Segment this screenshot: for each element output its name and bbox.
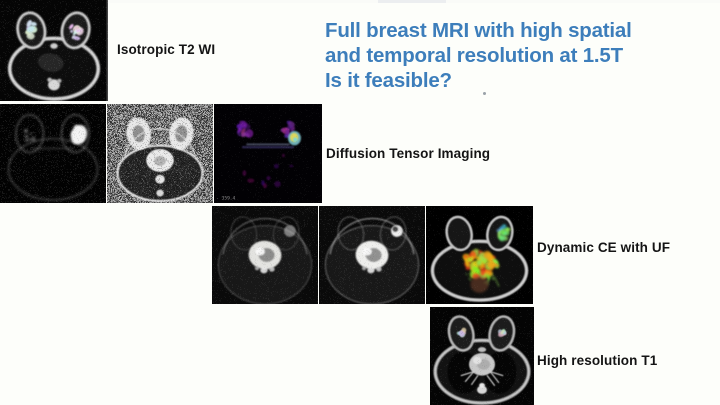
mri-panel-dti-color-overlay: [214, 104, 322, 203]
cursor-dot: [483, 92, 486, 95]
label-dynamic-ce-with-uf: Dynamic CE with UF: [537, 240, 670, 255]
mri-panel-dce-subtraction-late: [319, 206, 425, 304]
label-high-resolution-t1: High resolution T1: [537, 353, 657, 368]
mri-image-t2-axial-breast: [0, 0, 108, 101]
title-line-3: Is it feasible?: [325, 68, 695, 93]
top-bar: [0, 0, 720, 3]
label-diffusion-tensor-imaging: Diffusion Tensor Imaging: [326, 146, 490, 161]
mri-image-dce-subtraction-early: [212, 206, 318, 304]
mri-image-dce-perfusion-colormap: [426, 206, 533, 304]
mri-image-dce-subtraction-late: [319, 206, 425, 304]
mri-panel-dwi-axial-breast: [0, 104, 106, 203]
mri-image-dwi-axial-breast: [0, 104, 106, 203]
mri-panel-dce-subtraction-early: [212, 206, 318, 304]
title-line-1: Full breast MRI with high spatial: [325, 18, 695, 43]
top-bar-segment: [378, 0, 446, 3]
slide-title: Full breast MRI with high spatial and te…: [325, 18, 695, 93]
mri-panel-t1-high-resolution: [430, 307, 534, 405]
label-isotropic-t2-wi: Isotropic T2 WI: [117, 42, 215, 57]
mri-panel-t2-axial-breast: [0, 0, 108, 101]
mri-panel-adc-map-axial-breast: [107, 104, 213, 203]
mri-image-t1-high-resolution: [430, 307, 534, 405]
mri-panel-dce-perfusion-colormap: [426, 206, 533, 304]
mri-image-adc-map-axial-breast: [107, 104, 213, 203]
slide-canvas: Isotropic T2 WIDiffusion Tensor ImagingD…: [0, 0, 720, 405]
title-line-2: and temporal resolution at 1.5T: [325, 43, 695, 68]
mri-image-dti-color-overlay: [214, 104, 322, 203]
